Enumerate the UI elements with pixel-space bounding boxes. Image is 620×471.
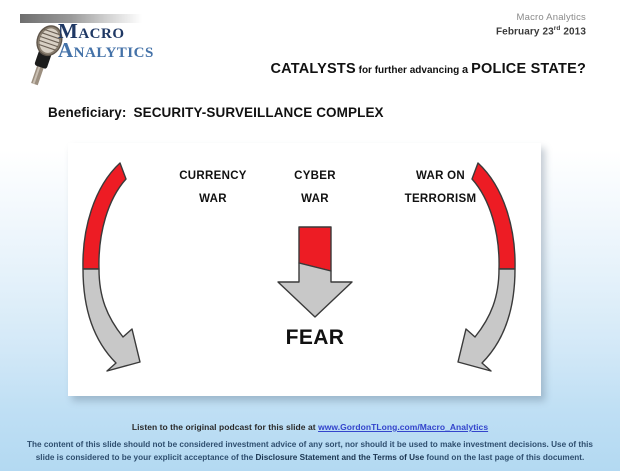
headline-article: a: [462, 64, 471, 76]
column-label-cyber: CYBER WAR: [250, 165, 380, 211]
header-date-year: 2013: [560, 26, 586, 37]
diagram-panel: CURRENCY WAR CYBER WAR WAR ON TERRORISM: [68, 143, 541, 396]
brand-wordmark-line-2: Analytics: [58, 40, 154, 61]
disclaimer-text: The content of this slide should not be …: [0, 438, 620, 465]
slide-canvas: Macro Analytics Macro Analytics February…: [0, 0, 620, 471]
column-label-cyber-line-2: WAR: [250, 188, 380, 211]
right-curved-arrow-icon: [450, 157, 522, 377]
beneficiary-label: Beneficiary:: [48, 105, 126, 120]
disclaimer-part-2: found on the last page of this document.: [424, 453, 584, 462]
outcome-label-fear: FEAR: [250, 326, 380, 350]
left-curved-arrow-icon: [76, 157, 148, 377]
header-meta: Macro Analytics February 23rd 2013: [496, 12, 586, 39]
podcast-prefix: Listen to the original podcast for this …: [132, 422, 318, 432]
header-company-name: Macro Analytics: [496, 12, 586, 24]
header-date-main: February 23: [496, 26, 554, 37]
slide-footer: Listen to the original podcast for this …: [0, 422, 620, 465]
podcast-line: Listen to the original podcast for this …: [0, 422, 620, 432]
center-down-arrow-icon: [255, 225, 375, 320]
beneficiary-line: Beneficiary:SECURITY-SURVEILLANCE COMPLE…: [48, 105, 384, 120]
headline-catalysts: CATALYSTS: [271, 61, 356, 77]
disclaimer-terms-emphasis: Disclosure Statement and the Terms of Us…: [256, 453, 425, 462]
slide-headline: CATALYSTS for further advancing a POLICE…: [0, 60, 586, 78]
column-label-cyber-line-1: CYBER: [250, 165, 380, 188]
beneficiary-value: SECURITY-SURVEILLANCE COMPLEX: [133, 105, 383, 120]
headline-police-state: POLICE STATE?: [471, 61, 586, 77]
header-date: February 23rd 2013: [496, 25, 586, 39]
podcast-link[interactable]: www.GordonTLong.com/Macro_Analytics: [318, 422, 488, 432]
headline-middle: for further advancing: [356, 65, 462, 76]
brand-wordmark: Macro Analytics: [58, 21, 154, 61]
